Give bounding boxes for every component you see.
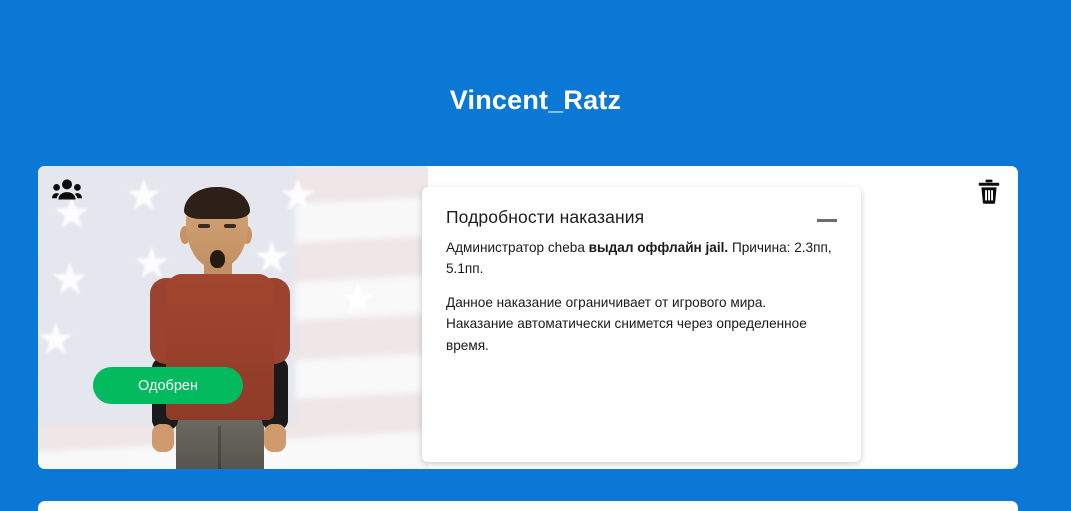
punishment-reason-text: Администратор cheba выдал оффлайн jail. …: [446, 237, 837, 280]
flag-star-icon: ★: [338, 278, 377, 322]
minimize-icon[interactable]: [817, 219, 837, 222]
trash-icon[interactable]: [978, 179, 1000, 209]
detail-card-body: Администратор cheba выдал оффлайн jail. …: [446, 237, 837, 356]
character-model: [130, 182, 340, 469]
flag-star-icon: ★: [38, 318, 75, 362]
profile-panel: ★ ★ ★ ★ ★ ★ ★ ★ ★ Одобр: [38, 166, 1018, 469]
punishment-reason-type: выдал оффлайн jail.: [589, 240, 729, 255]
punishment-description-text: Данное наказание ограничивает от игровог…: [446, 292, 837, 356]
avatar: ★ ★ ★ ★ ★ ★ ★ ★ ★ Одобр: [38, 166, 428, 469]
flag-star-icon: ★: [50, 258, 89, 302]
status-badge[interactable]: Одобрен: [93, 367, 243, 404]
detail-card-header: Подробности наказания: [446, 207, 837, 228]
detail-card-title: Подробности наказания: [446, 207, 644, 228]
punishment-detail-card: Подробности наказания Администратор cheb…: [422, 187, 861, 462]
users-group-icon[interactable]: [52, 178, 82, 205]
punishment-reason-prefix: Администратор cheba: [446, 240, 589, 255]
page-title: Vincent_Ratz: [0, 85, 1071, 116]
secondary-panel: [38, 501, 1018, 511]
